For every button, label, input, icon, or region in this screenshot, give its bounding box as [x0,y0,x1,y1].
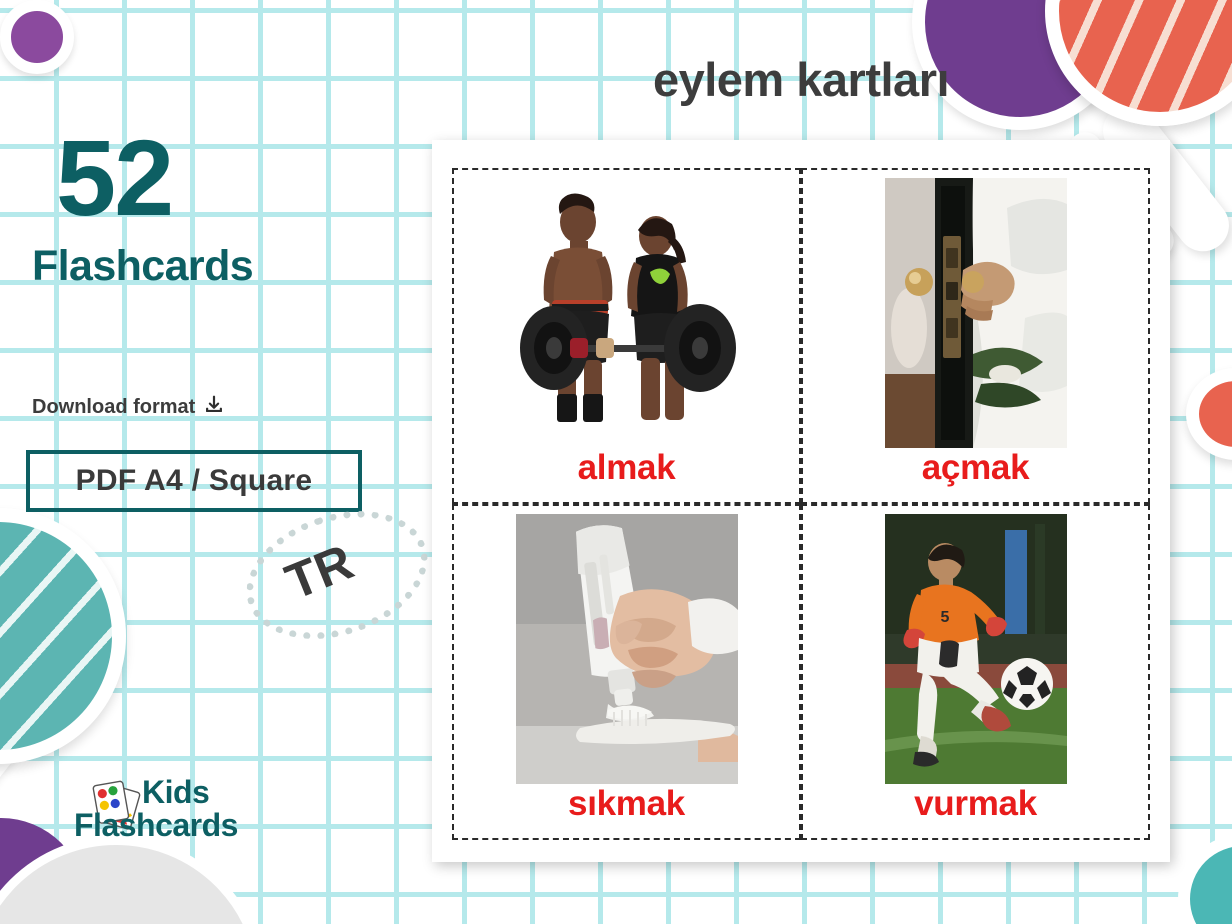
flashcard[interactable]: 5 [801,504,1150,840]
flashcard-label: sıkmak [568,784,685,834]
format-select-button[interactable]: PDF A4 / Square [26,450,362,512]
download-icon [203,394,225,421]
hand-opening-door-with-brass-knob-icon [885,178,1067,448]
purple-dot-decoration [0,0,74,74]
flashcards-preview-page: 52 Flashcards Download format PDF A4 / S… [0,0,1232,924]
flashcards-count: 52 [56,124,172,232]
flashcard[interactable]: almak [452,168,801,504]
flashcards-grid: almak [452,168,1150,834]
language-badge: TR [244,515,430,635]
download-format-label: Download format [32,396,195,419]
flashcard-image [460,514,793,784]
flashcard-image [809,178,1142,448]
site-logo-line2: Flashcards [74,809,238,842]
site-logo[interactable]: Kids Flashcards [76,776,376,862]
svg-text:5: 5 [940,609,949,626]
flashcard-image [460,178,793,448]
page-title: eylem kartları [432,52,1170,107]
sidebar: 52 Flashcards Download format PDF A4 / S… [0,0,420,924]
flashcards-count-label: Flashcards [32,242,253,291]
site-logo-line1: Kids [142,774,209,810]
two-weightlifters-deadlifting-barbell-icon [510,188,744,438]
site-logo-text: Kids Flashcards [142,776,238,841]
flashcard-label: açmak [922,448,1029,498]
hand-squeezing-toothpaste-onto-toothbrush-icon [516,514,738,784]
flashcards-sheet: almak [432,140,1170,862]
flashcard-image: 5 [809,514,1142,784]
soccer-player-in-orange-kicking-ball-icon: 5 [885,514,1067,784]
flashcard-label: almak [578,448,676,498]
flashcard[interactable]: sıkmak [452,504,801,840]
download-format-row: Download format [32,394,225,421]
flashcard-label: vurmak [914,784,1037,834]
flashcard[interactable]: açmak [801,168,1150,504]
format-select-label: PDF A4 / Square [76,464,313,498]
